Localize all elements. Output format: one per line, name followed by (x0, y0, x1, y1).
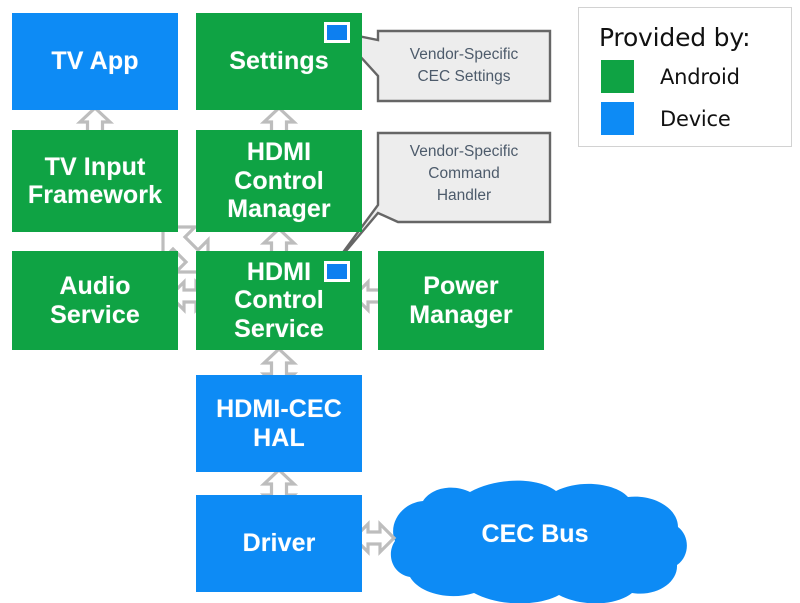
node-driver[interactable]: Driver (196, 495, 362, 592)
node-hdmi-control-manager-label: HDMI Control Manager (223, 138, 335, 224)
legend-item-android: Android (601, 60, 740, 93)
legend-title: Provided by: (599, 23, 750, 52)
node-audio-service[interactable]: Audio Service (12, 251, 178, 350)
node-hdmi-cec-hal[interactable]: HDMI-CEC HAL (196, 375, 362, 472)
legend: Provided by: Android Device (578, 7, 792, 147)
node-power-manager-label: Power Manager (405, 272, 517, 329)
legend-label-device: Device (660, 107, 731, 131)
callout-vendor-command-handler-shape (330, 133, 550, 270)
node-settings-label: Settings (225, 47, 332, 76)
callout-vendor-cec-settings-shape (338, 31, 550, 101)
legend-item-device: Device (601, 102, 731, 135)
hdmi-cec-architecture-diagram: TV App Settings TV Input Framework HDMI … (0, 0, 800, 603)
legend-swatch-device (601, 102, 634, 135)
node-audio-service-label: Audio Service (46, 272, 144, 329)
vendor-specific-chip-icon-settings[interactable] (324, 22, 350, 43)
node-power-manager[interactable]: Power Manager (378, 251, 544, 350)
node-hdmi-control-manager[interactable]: HDMI Control Manager (196, 130, 362, 232)
node-cec-bus-label: CEC Bus (435, 520, 635, 549)
legend-label-android: Android (660, 65, 740, 89)
node-tv-app[interactable]: TV App (12, 13, 178, 110)
legend-swatch-android (601, 60, 634, 93)
node-hdmi-cec-hal-label: HDMI-CEC HAL (212, 395, 346, 452)
vendor-specific-chip-icon-hdmi-control-service[interactable] (324, 261, 350, 282)
node-tv-input-framework-label: TV Input Framework (24, 153, 166, 210)
node-settings[interactable]: Settings (196, 13, 362, 110)
node-hdmi-control-service[interactable]: HDMI Control Service (196, 251, 362, 350)
node-tv-app-label: TV App (47, 47, 142, 76)
node-hdmi-control-service-label: HDMI Control Service (230, 258, 328, 344)
node-tv-input-framework[interactable]: TV Input Framework (12, 130, 178, 232)
node-driver-label: Driver (239, 529, 320, 558)
